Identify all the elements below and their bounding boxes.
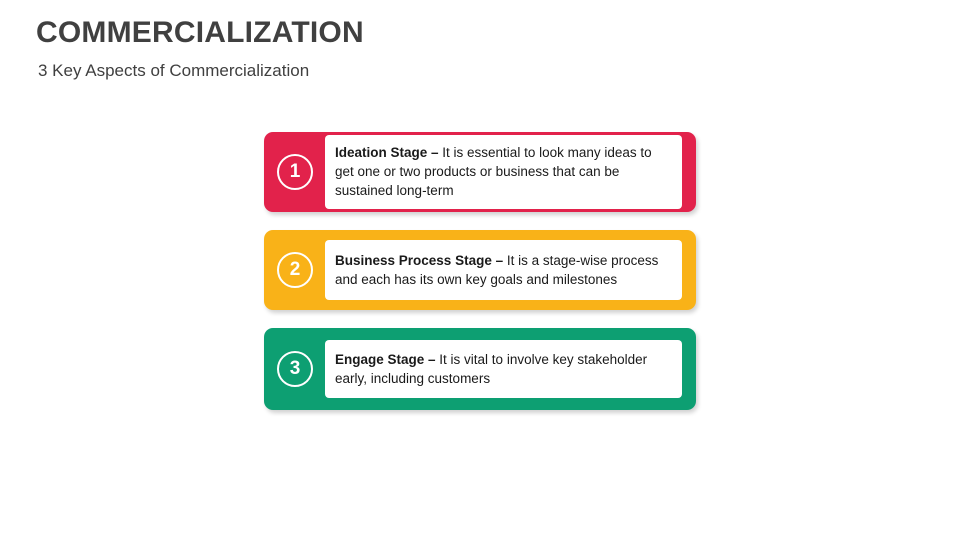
- page-subtitle: 3 Key Aspects of Commercialization: [38, 61, 309, 81]
- stage-list: 1 Ideation Stage – It is essential to lo…: [264, 132, 696, 428]
- stage-row-3[interactable]: 3 Engage Stage – It is vital to involve …: [264, 328, 696, 410]
- stage-heading-2: Business Process Stage –: [335, 253, 507, 268]
- stage-number-badge-2: 2: [277, 252, 313, 288]
- stage-card-1: Ideation Stage – It is essential to look…: [325, 135, 682, 209]
- stage-heading-1: Ideation Stage –: [335, 145, 442, 160]
- stage-card-text-3: Engage Stage – It is vital to involve ke…: [335, 350, 672, 388]
- stage-heading-3: Engage Stage –: [335, 352, 439, 367]
- slide-canvas: COMMERCIALIZATION 3 Key Aspects of Comme…: [0, 0, 960, 540]
- stage-number-badge-1: 1: [277, 154, 313, 190]
- stage-card-text-1: Ideation Stage – It is essential to look…: [335, 143, 672, 200]
- stage-number-badge-3: 3: [277, 351, 313, 387]
- stage-card-3: Engage Stage – It is vital to involve ke…: [325, 340, 682, 398]
- stage-card-text-2: Business Process Stage – It is a stage-w…: [335, 251, 672, 289]
- stage-row-1[interactable]: 1 Ideation Stage – It is essential to lo…: [264, 132, 696, 212]
- stage-card-2: Business Process Stage – It is a stage-w…: [325, 240, 682, 300]
- stage-row-2[interactable]: 2 Business Process Stage – It is a stage…: [264, 230, 696, 310]
- page-title: COMMERCIALIZATION: [36, 16, 364, 50]
